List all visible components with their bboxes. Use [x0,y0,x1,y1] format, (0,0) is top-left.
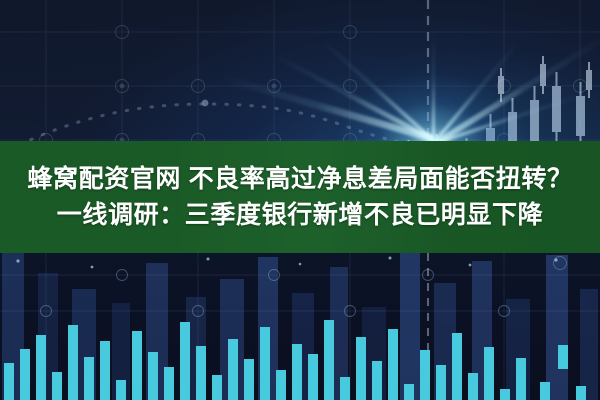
banner-overlay [0,141,600,253]
banner-image: 蜂窝配资官网 不良率高过净息差局面能否扭转？ 一线调研：三季度银行新增不良已明显… [0,0,600,400]
volume-bar-chart [0,253,600,400]
headline-line-2: 一线调研：三季度银行新增不良已明显下降 [57,198,543,232]
headline-line-1: 蜂窝配资官网 不良率高过净息差局面能否扭转？ [27,162,572,196]
headline-banner: 蜂窝配资官网 不良率高过净息差局面能否扭转？ 一线调研：三季度银行新增不良已明显… [0,141,600,253]
